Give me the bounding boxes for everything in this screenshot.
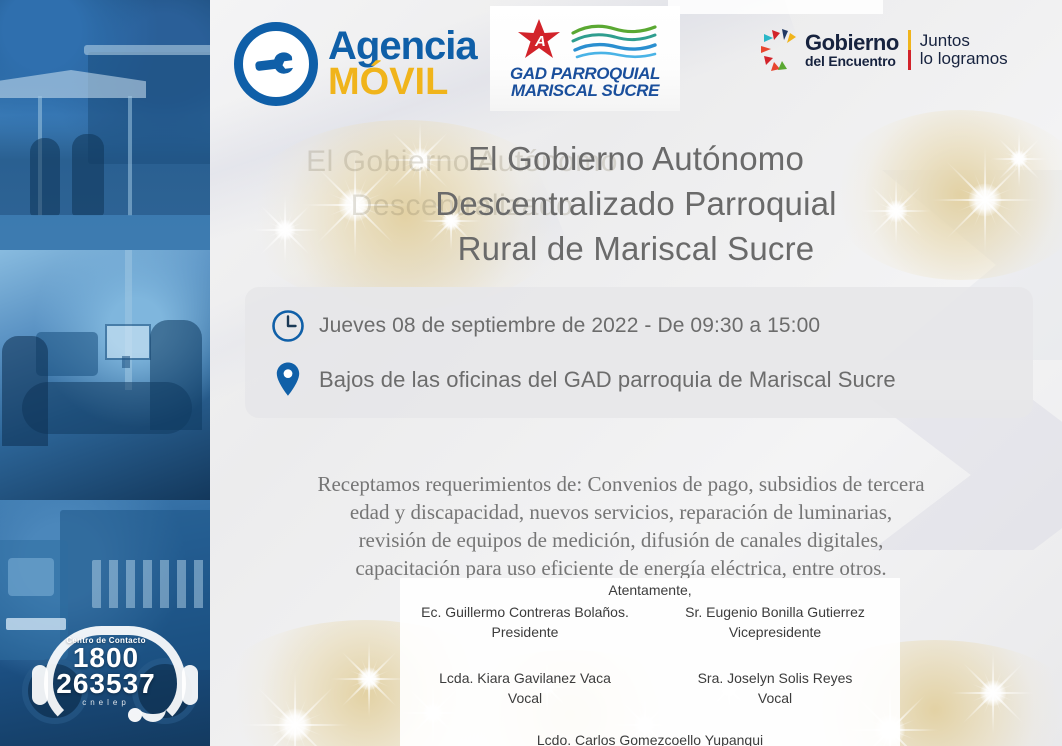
event-datetime-row: Jueves 08 de septiembre de 2022 - De 09:… (245, 287, 1033, 353)
signature-heading: Atentamente, (400, 578, 900, 598)
event-location-row: Bajos de las oficinas del GAD parroquia … (245, 353, 1033, 407)
event-details-box: Jueves 08 de septiembre de 2022 - De 09:… (245, 287, 1033, 418)
movil-label: MÓVIL (328, 65, 477, 100)
gad-wordmark: GAD PARROQUIAL MARISCAL SUCRE (510, 66, 660, 98)
title-line-3: Rural de Mariscal Sucre (210, 226, 1062, 271)
ecuador-arrows-icon (760, 28, 796, 72)
signature-role: Vocal (400, 688, 650, 708)
gad-line-2: MARISCAL SUCRE (510, 83, 660, 99)
logo-agencia-movil: Agencia MÓVIL (234, 22, 477, 106)
wrench-circle-icon (234, 22, 318, 106)
poster-canvas: El Gobierno Autónomo Descentralizado (0, 0, 1062, 746)
body-line-1: Receptamos requerimientos de: Convenios … (210, 470, 1032, 498)
logo-gad-parroquial: A GAD PARROQUIAL MARISCAL SUCRE (490, 6, 680, 111)
signature-block: Atentamente, Ec. Guillermo Contreras Bol… (400, 578, 900, 746)
event-location-text: Bajos de las oficinas del GAD parroquia … (319, 367, 896, 393)
photo-office-desk (0, 250, 210, 500)
signature-role: Vocal (650, 688, 900, 708)
signature-name: Sra. Joselyn Solis Reyes (650, 668, 900, 688)
signature-row-3: Lcdo. Carlos Gomezcoello Yupanqui Vocal (400, 730, 900, 746)
photo-cnel-truck (0, 500, 210, 746)
signature-name: Lcdo. Carlos Gomezcoello Yupanqui (400, 730, 900, 746)
slogan-line-1: Juntos (920, 32, 1008, 50)
signature-entry: Ec. Guillermo Contreras Bolaños. Preside… (400, 602, 650, 642)
body-line-3: revisión de equipos de medición, difusió… (210, 526, 1032, 554)
event-datetime-text: Jueves 08 de septiembre de 2022 - De 09:… (319, 314, 820, 338)
body-line-2: edad y discapacidad, nuevos servicios, r… (210, 498, 1032, 526)
gobierno-slogan: Juntos lo logramos (920, 32, 1008, 69)
signature-row-1: Ec. Guillermo Contreras Bolaños. Preside… (400, 602, 900, 642)
signature-name: Sr. Eugenio Bonilla Gutierrez (650, 602, 900, 622)
sparkle-star (950, 650, 1036, 736)
services-description: Receptamos requerimientos de: Convenios … (210, 470, 1032, 582)
signature-entry: Lcda. Kiara Gavilanez Vaca Vocal (400, 668, 650, 708)
agencia-movil-wordmark: Agencia MÓVIL (328, 28, 477, 100)
title-line-1: El Gobierno Autónomo (210, 136, 1062, 181)
signature-name: Ec. Guillermo Contreras Bolaños. (400, 602, 650, 622)
signature-name: Lcda. Kiara Gavilanez Vaca (400, 668, 650, 688)
flag-divider (908, 30, 911, 70)
green-blue-waves-icon (571, 21, 657, 61)
photo-strip (0, 0, 210, 746)
signature-entry: Sra. Joselyn Solis Reyes Vocal (650, 668, 900, 708)
signature-entry: Sr. Eugenio Bonilla Gutierrez Vicepresid… (650, 602, 900, 642)
gobierno-label: Gobierno (805, 32, 899, 54)
sparkle-star (240, 670, 350, 746)
del-encuentro-label: del Encuentro (805, 54, 899, 68)
gad-emblem: A (513, 18, 657, 64)
header-logos: Agencia MÓVIL A GAD PARROQUIAL (210, 0, 1062, 118)
page-title: El Gobierno Autónomo Descentralizado Par… (210, 136, 1062, 271)
svg-text:A: A (534, 33, 546, 50)
red-star-icon: A (513, 18, 565, 64)
signature-role: Presidente (400, 622, 650, 642)
clock-icon (271, 309, 305, 343)
agencia-label: Agencia (328, 28, 477, 65)
signature-role: Vicepresidente (650, 622, 900, 642)
logo-gobierno-del-encuentro: Gobierno del Encuentro Juntos lo logramo… (760, 28, 1008, 72)
sparkle-star (330, 640, 408, 718)
location-pin-icon (271, 360, 305, 400)
slogan-line-2: lo logramos (920, 50, 1008, 68)
title-line-2: Descentralizado Parroquial (210, 181, 1062, 226)
signature-row-2: Lcda. Kiara Gavilanez Vaca Vocal Sra. Jo… (400, 668, 900, 708)
gobierno-wordmark: Gobierno del Encuentro (805, 32, 899, 68)
photo-mobile-agency-tent (0, 0, 210, 250)
